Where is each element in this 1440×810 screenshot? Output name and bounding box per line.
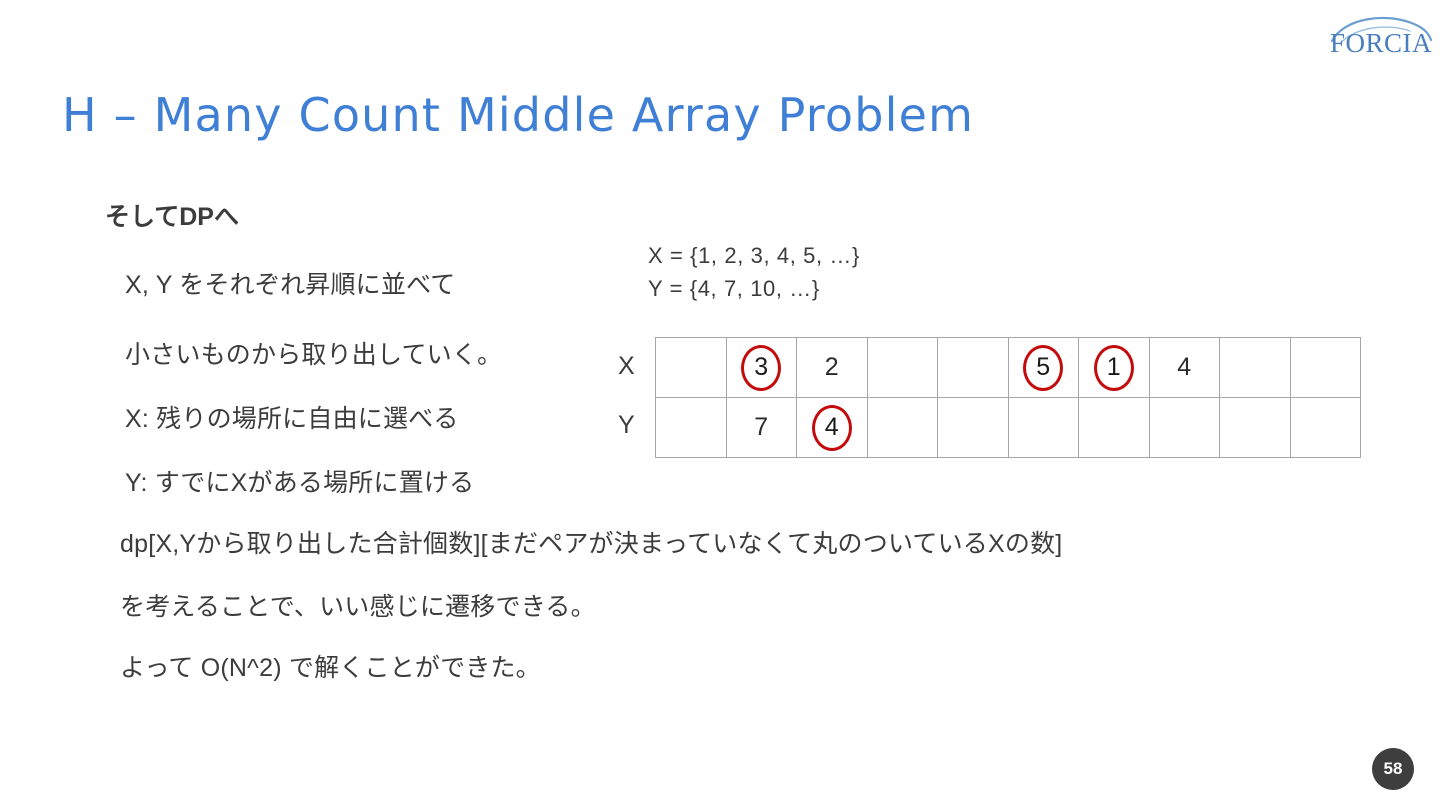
grid-cell[interactable]: 4 <box>797 398 868 458</box>
grid-cell-value: 5 <box>1036 355 1050 380</box>
grid-row-label-x: X <box>618 352 635 381</box>
array-grid-table: 3251474 <box>655 337 1361 458</box>
array-grid: 3251474 <box>655 337 1350 455</box>
grid-cell[interactable] <box>1149 398 1220 458</box>
section-subheading: そしてDPへ <box>105 197 239 233</box>
set-definition-x: X = {1, 2, 3, 4, 5, …} <box>648 243 860 269</box>
grid-cell-value: 4 <box>825 415 839 440</box>
grid-cell[interactable]: 3 <box>726 338 797 398</box>
grid-cell[interactable]: 5 <box>1008 338 1079 398</box>
grid-cell[interactable] <box>1079 398 1150 458</box>
grid-row-label-y: Y <box>618 411 635 440</box>
grid-cell[interactable] <box>1220 398 1291 458</box>
grid-row: 74 <box>656 398 1361 458</box>
grid-cell-value: 4 <box>1177 355 1191 380</box>
body-line: よって O(N^2) で解くことができた。 <box>120 648 541 684</box>
body-line: Y: すでにXがある場所に置ける <box>125 463 474 499</box>
forcia-logo: FORCIA <box>1330 14 1434 64</box>
grid-cell-value: 2 <box>825 355 839 380</box>
grid-cell[interactable] <box>1290 398 1361 458</box>
grid-cell[interactable]: 1 <box>1079 338 1150 398</box>
grid-cell-value: 7 <box>754 415 768 440</box>
grid-row: 32514 <box>656 338 1361 398</box>
grid-cell[interactable] <box>1290 338 1361 398</box>
grid-cell[interactable] <box>656 398 727 458</box>
grid-cell[interactable] <box>656 338 727 398</box>
page-title: H – Many Count Middle Array Problem <box>62 88 974 142</box>
grid-cell[interactable]: 7 <box>726 398 797 458</box>
body-line: X, Y をそれぞれ昇順に並べて <box>125 265 456 301</box>
grid-cell[interactable] <box>938 398 1009 458</box>
body-line: 小さいものから取り出していく。 <box>125 335 502 371</box>
grid-cell[interactable]: 4 <box>1149 338 1220 398</box>
grid-cell[interactable] <box>1220 338 1291 398</box>
page-number-badge: 58 <box>1372 748 1414 790</box>
grid-cell[interactable] <box>1008 398 1079 458</box>
grid-cell[interactable] <box>867 338 938 398</box>
slide-canvas: FORCIA H – Many Count Middle Array Probl… <box>0 0 1440 810</box>
grid-cell[interactable] <box>938 338 1009 398</box>
set-definition-y: Y = {4, 7, 10, …} <box>648 276 820 302</box>
grid-cell[interactable] <box>867 398 938 458</box>
logo-wordmark: FORCIA <box>1330 30 1434 57</box>
body-line: X: 残りの場所に自由に選べる <box>125 399 459 435</box>
grid-cell[interactable]: 2 <box>797 338 868 398</box>
grid-cell-value: 3 <box>754 355 768 380</box>
body-line: dp[X,Yから取り出した合計個数][まだペアが決まっていなくて丸のついているX… <box>120 524 1062 560</box>
grid-cell-value: 1 <box>1107 355 1121 380</box>
body-line: を考えることで、いい感じに遷移できる。 <box>120 587 596 623</box>
